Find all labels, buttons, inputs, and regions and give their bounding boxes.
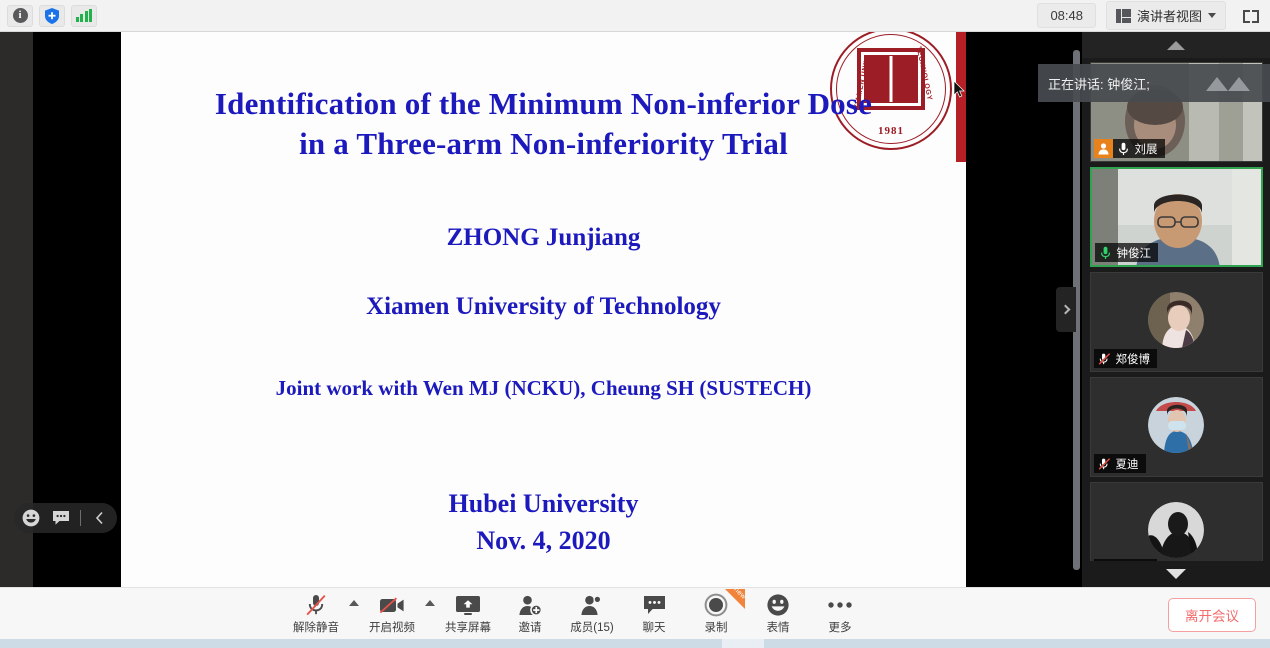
participant-tile-list[interactable]: 刘展 (1082, 58, 1270, 561)
more-dots-icon (827, 592, 853, 618)
chevron-up-icon (349, 600, 359, 606)
slide-title: Identification of the Minimum Non-inferi… (121, 84, 966, 164)
avatar (1148, 292, 1204, 348)
more-button[interactable]: 更多 (809, 588, 871, 640)
start-video-label: 开启视频 (369, 619, 415, 635)
participants-button[interactable]: 成员(15) (561, 588, 623, 640)
scroll-up-arrow-icon (1167, 41, 1185, 50)
active-speaker-label: 正在讲话: 钟俊江; (1048, 74, 1150, 93)
chevron-down-icon (1208, 13, 1216, 18)
chat-bubble-icon (643, 592, 666, 618)
fullscreen-button[interactable] (1238, 4, 1264, 28)
participant-tile-active-speaker[interactable]: 钟俊江 (1090, 167, 1263, 267)
network-quality-button[interactable] (71, 5, 97, 27)
shield-icon (45, 8, 59, 24)
participant-tile[interactable]: 夏迪 (1090, 377, 1263, 477)
top-bar-left-icons: i (0, 5, 97, 27)
slide-affiliation: Xiamen University of Technology (121, 293, 966, 321)
unmute-label: 解除静音 (293, 619, 339, 635)
top-status-bar: i 08:48 演讲者视图 (0, 0, 1270, 32)
participant-video-panel: 正在讲话: 钟俊江; (1082, 32, 1270, 587)
chevron-left-icon[interactable] (89, 507, 111, 529)
info-icon: i (13, 8, 28, 23)
unmute-button[interactable]: 解除静音 (285, 588, 347, 640)
zoom-meeting-window: i 08:48 演讲者视图 (0, 0, 1270, 648)
chat-bubble-icon[interactable] (50, 507, 72, 529)
meeting-info-button[interactable]: i (7, 5, 33, 27)
shared-screen-slide[interactable]: XIAMEN UNIV TECHNOLOGY 1981 Identificati… (121, 32, 966, 587)
chat-label: 聊天 (643, 619, 666, 635)
start-video-button[interactable]: 开启视频 (361, 588, 423, 640)
participants-icon (580, 592, 604, 618)
chat-button[interactable]: 聊天 (623, 588, 685, 640)
toolbar-buttons: 解除静音 开启视频 (285, 588, 871, 640)
microphone-muted-icon (1094, 352, 1111, 366)
participants-label: 成员(15) (570, 619, 613, 635)
reactions-button[interactable]: 表情 (747, 588, 809, 640)
floating-mini-controls (14, 503, 117, 533)
invite-button[interactable]: 邀请 (499, 588, 561, 640)
leave-meeting-button[interactable]: 离开会议 (1168, 598, 1256, 632)
video-scroll-down-button[interactable] (1082, 561, 1270, 587)
reactions-label: 表情 (767, 619, 790, 635)
slide-title-line-2: in a Three-arm Non-inferiority Trial (121, 124, 966, 164)
emoji-reaction-icon[interactable] (20, 507, 42, 529)
top-bar-right-controls: 08:48 演讲者视图 (1037, 0, 1270, 32)
collapse-video-panel-button[interactable] (1056, 287, 1076, 332)
slide-date: Nov. 4, 2020 (121, 522, 966, 559)
clock-display: 08:48 (1037, 3, 1096, 28)
desktop-taskbar-sliver (0, 639, 1270, 648)
share-screen-label: 共享屏幕 (445, 619, 491, 635)
participant-label: 刘展 (1094, 139, 1165, 158)
chevron-right-icon (1060, 305, 1070, 315)
video-scroll-up-button[interactable] (1082, 32, 1270, 58)
avatar (1148, 397, 1204, 453)
more-label: 更多 (829, 619, 852, 635)
avatar (1148, 502, 1204, 558)
slide-author: ZHONG Junjiang (121, 224, 966, 252)
signal-bars-icon (76, 9, 93, 22)
slide-venue: Hubei University (121, 485, 966, 522)
chevron-up-icon (425, 600, 435, 606)
participant-label: 郑俊博 (1094, 349, 1158, 368)
invite-label: 邀请 (519, 619, 542, 635)
microphone-unmuted-icon (1113, 142, 1130, 156)
audio-wave-icon (1206, 73, 1258, 93)
participant-tile[interactable]: 郑俊博 (1090, 272, 1263, 372)
divider (80, 510, 81, 526)
emoji-smiley-icon (766, 592, 790, 618)
record-label: 录制 (705, 619, 728, 635)
slide-venue-block: Hubei University Nov. 4, 2020 (121, 485, 966, 559)
participant-name: 郑俊博 (1111, 351, 1151, 367)
record-button[interactable]: new 录制 (685, 588, 747, 640)
participant-label: 钟俊江 (1095, 243, 1159, 262)
camera-off-icon (379, 592, 405, 618)
slide-joint-work: Joint work with Wen MJ (NCKU), Cheung SH… (121, 376, 966, 401)
encryption-shield-button[interactable] (39, 5, 65, 27)
view-mode-label: 演讲者视图 (1137, 6, 1202, 25)
participant-tile[interactable]: 徐凯东 (1090, 482, 1263, 561)
participant-name: 刘展 (1130, 141, 1158, 157)
video-options-caret[interactable] (423, 588, 437, 640)
share-screen-button[interactable]: 共享屏幕 (437, 588, 499, 640)
participant-label: 夏迪 (1094, 454, 1146, 473)
share-screen-icon (455, 592, 481, 618)
avatar-badge-icon (1094, 139, 1113, 158)
microphone-speaking-icon (1095, 246, 1112, 260)
microphone-muted-icon (1094, 457, 1111, 471)
microphone-muted-icon (304, 592, 328, 618)
slide-title-line-1: Identification of the Minimum Non-inferi… (121, 84, 966, 124)
participant-name: 夏迪 (1111, 456, 1139, 472)
invite-person-add-icon (518, 592, 542, 618)
scroll-down-arrow-icon (1166, 569, 1186, 579)
meeting-toolbar: 解除静音 开启视频 (0, 587, 1270, 639)
audio-options-caret[interactable] (347, 588, 361, 640)
active-speaker-banner: 正在讲话: 钟俊江; (1038, 64, 1270, 102)
layout-speaker-view-icon (1116, 9, 1131, 23)
participant-name: 钟俊江 (1112, 245, 1152, 261)
view-mode-selector[interactable]: 演讲者视图 (1106, 1, 1226, 30)
